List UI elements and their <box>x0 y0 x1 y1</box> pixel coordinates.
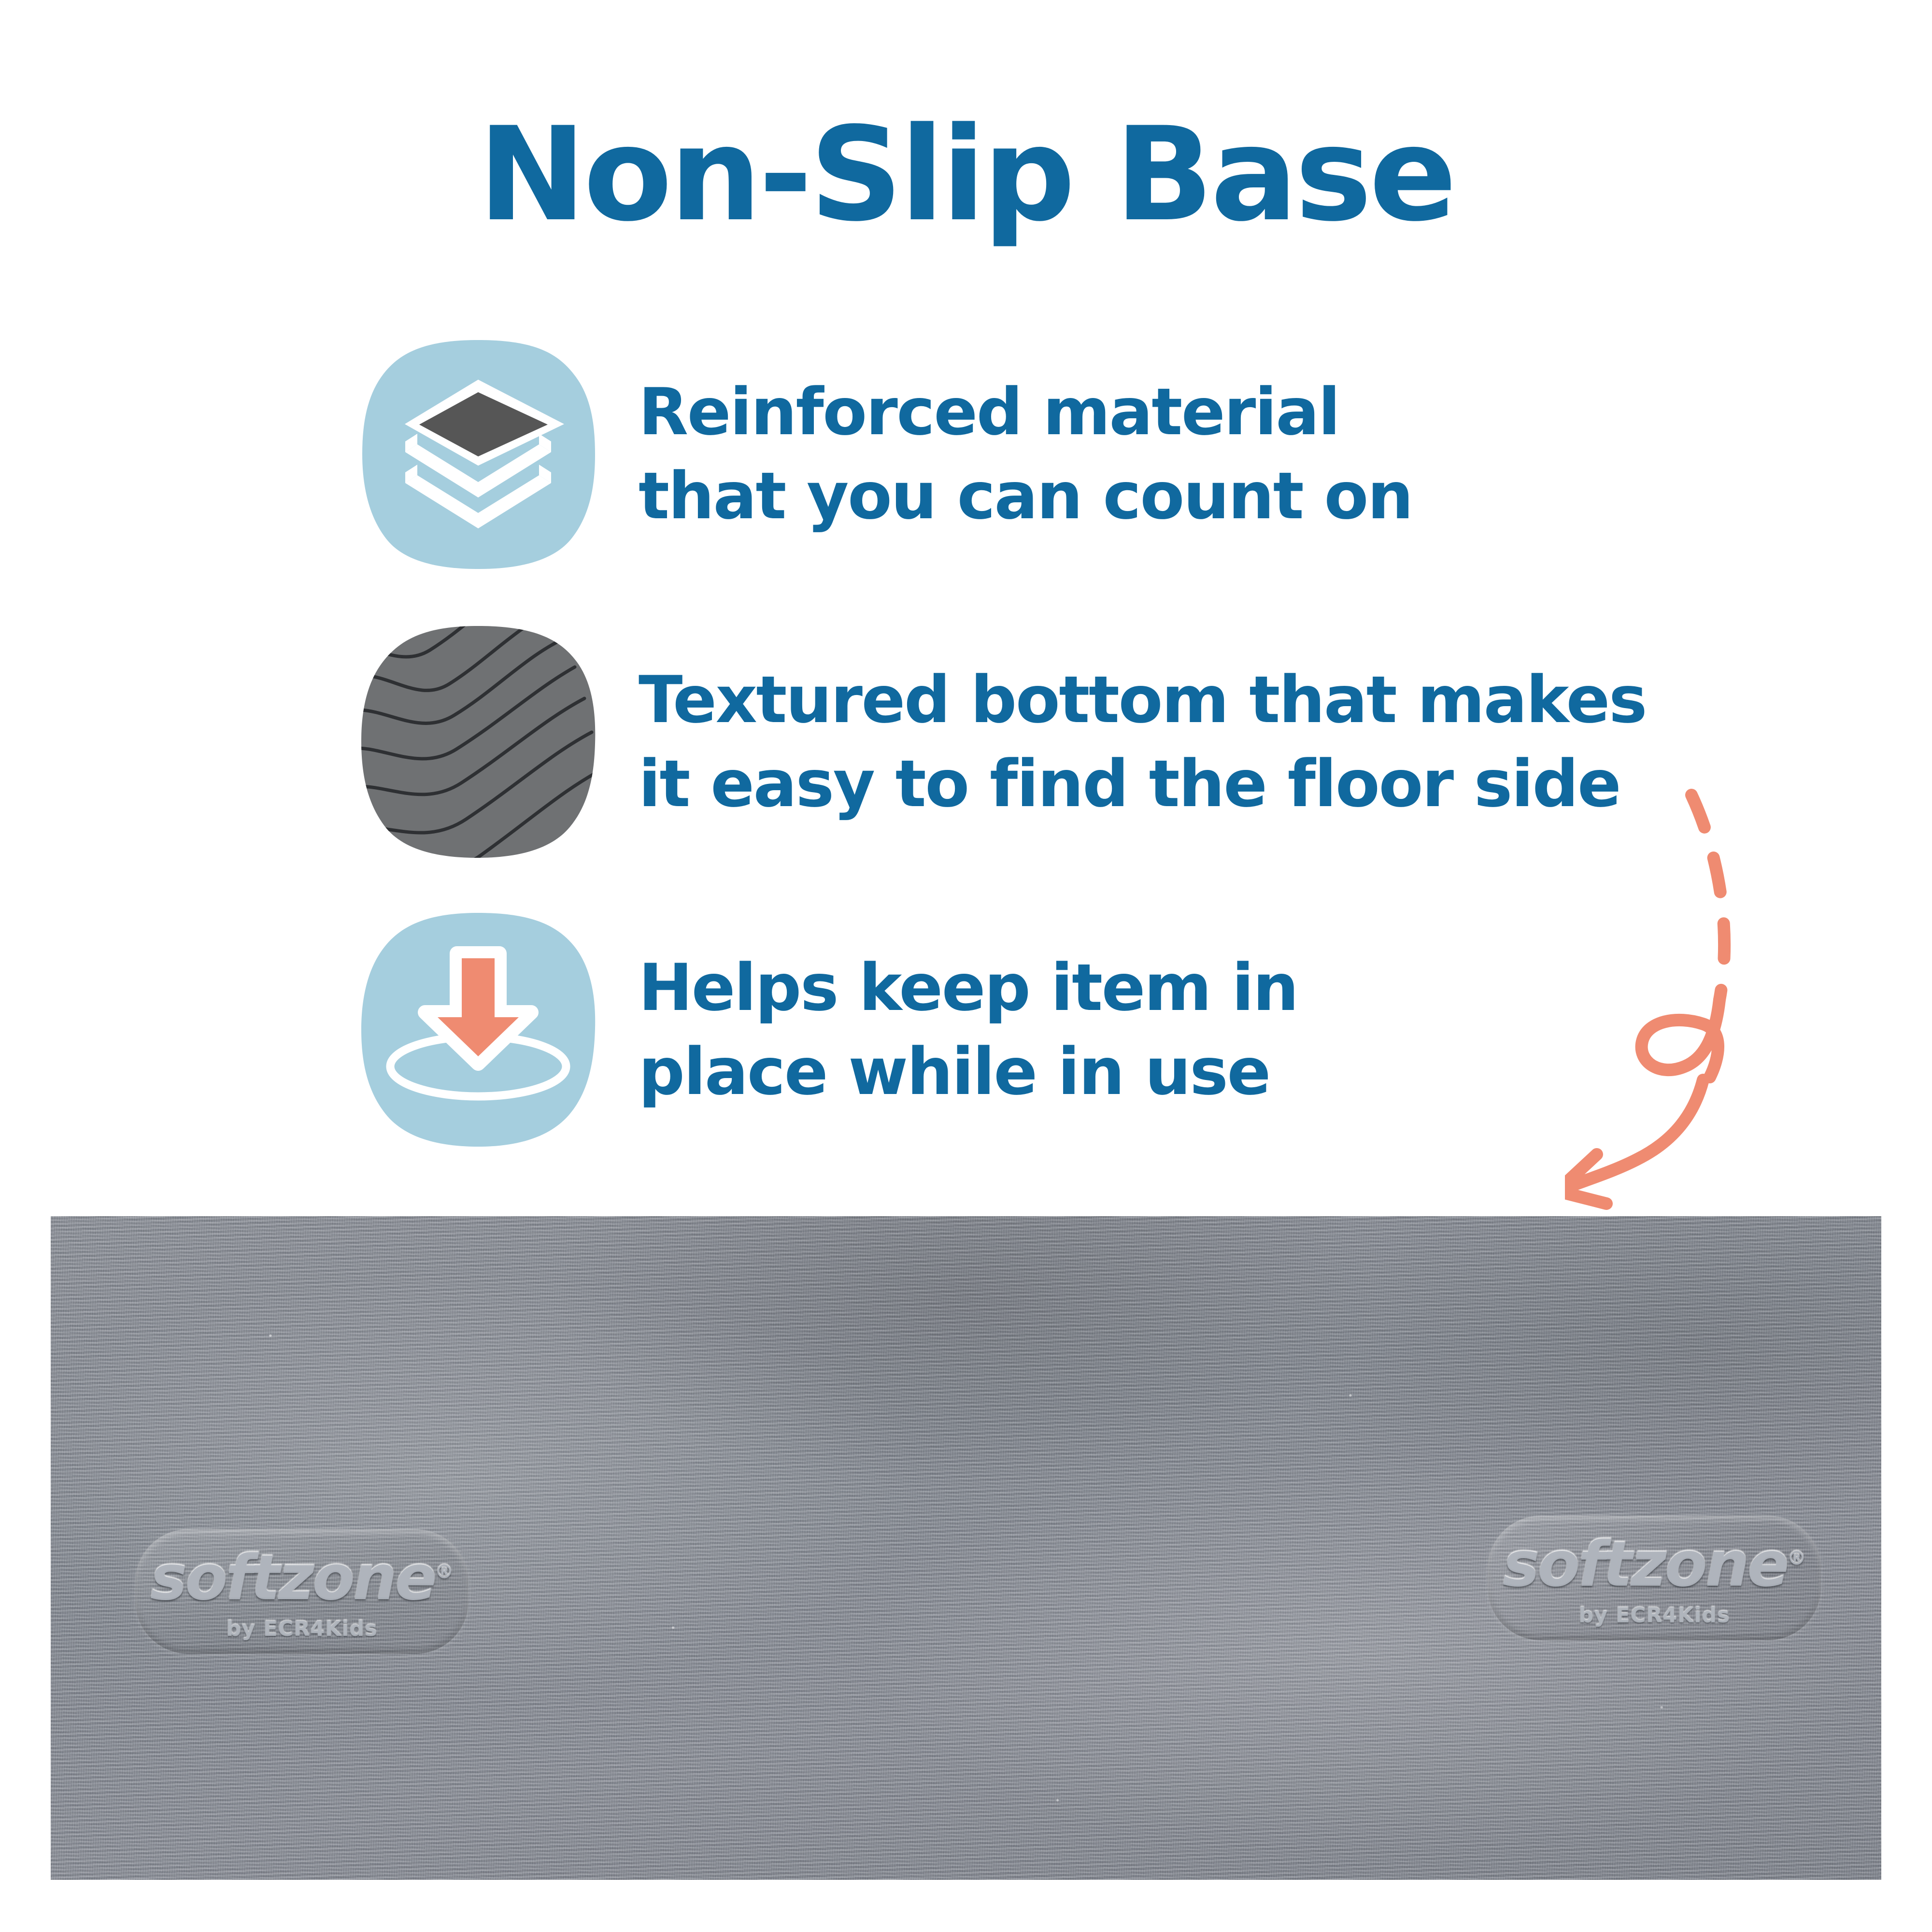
brand-wordmark: softzone® <box>1503 1529 1806 1601</box>
page-title: Non-Slip Base <box>0 110 1932 240</box>
registered-trademark-icon: ® <box>435 1561 453 1583</box>
brand-wordmark: softzone® <box>150 1542 454 1614</box>
feature-item-keeps-in-place: Helps keep item in place while in use <box>357 909 1758 1151</box>
feature-label: Reinforced material that you can count o… <box>639 370 1412 538</box>
brand-subline: by ECR4Kids <box>1578 1604 1730 1628</box>
feature-label: Textured bottom that makes it easy to fi… <box>639 658 1646 826</box>
product-photo-nonslip-base: softzone® by ECR4Kids softzone® by ECR4K… <box>51 1216 1881 1880</box>
feature-item-textured-bottom: Textured bottom that makes it easy to fi… <box>357 621 1758 863</box>
layers-icon <box>357 333 599 575</box>
infographic-page: Non-Slip Base <box>0 0 1932 1932</box>
texture-swatch-icon <box>357 621 599 863</box>
feature-list: Reinforced material that you can count o… <box>357 333 1758 1197</box>
embossed-brand-plaque-right: softzone® by ECR4Kids <box>1488 1516 1821 1640</box>
registered-trademark-icon: ® <box>1787 1548 1805 1569</box>
feature-item-reinforced-material: Reinforced material that you can count o… <box>357 333 1758 575</box>
feature-label: Helps keep item in place while in use <box>639 946 1298 1114</box>
press-down-icon <box>357 909 599 1151</box>
embossed-brand-plaque-left: softzone® by ECR4Kids <box>135 1529 469 1654</box>
brand-subline: by ECR4Kids <box>226 1617 377 1641</box>
